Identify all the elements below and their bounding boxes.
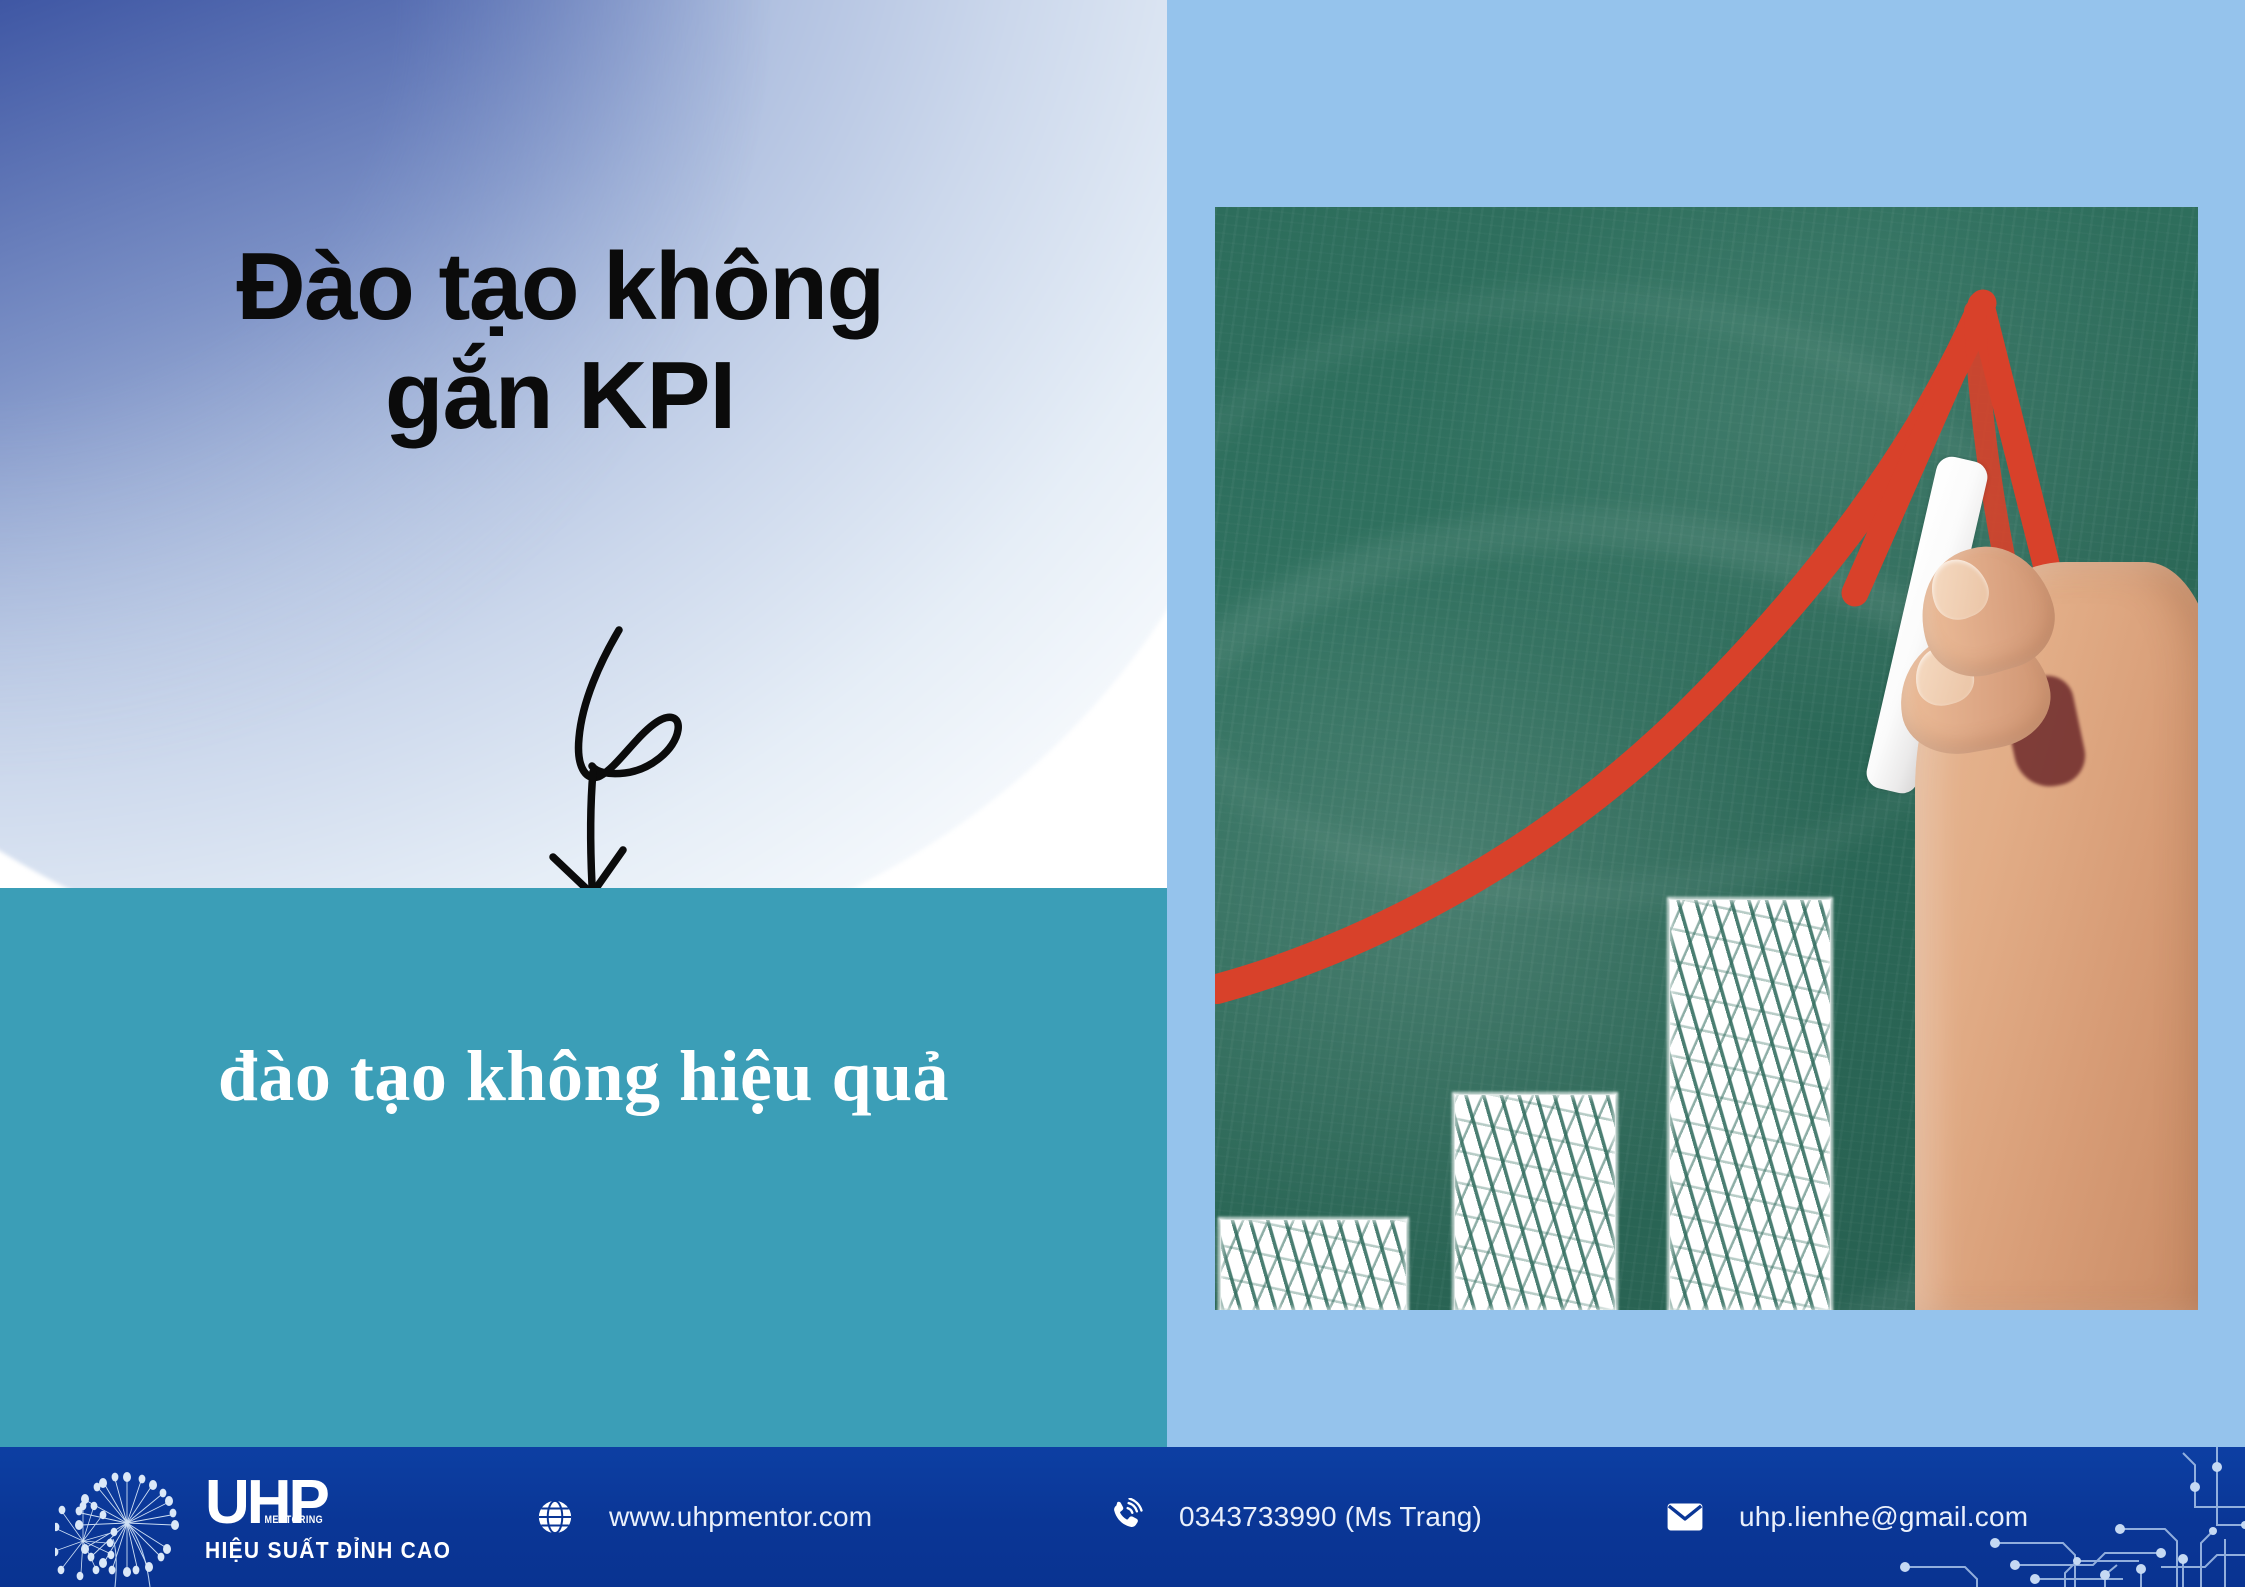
curly-down-arrow-icon bbox=[520, 620, 750, 905]
logo-tagline: HIỆU SUẤT ĐỈNH CAO bbox=[205, 1538, 475, 1565]
page-title: Đào tạo không gắn KPI bbox=[0, 232, 1120, 451]
logo-wordmark: UHP MENTORING bbox=[205, 1473, 327, 1533]
title-line-2: gắn KPI bbox=[0, 341, 1120, 450]
chalk-bar-3 bbox=[1670, 900, 1830, 1310]
globe-icon bbox=[535, 1497, 575, 1537]
uhp-logo[interactable]: UHP MENTORING HIỆU SUẤT ĐỈNH CAO bbox=[205, 1473, 475, 1562]
contact-phone[interactable]: 0343733990 (Ms Trang) bbox=[1105, 1497, 1482, 1537]
bar-chalk-edge bbox=[1452, 1092, 1618, 1310]
contact-phone-text: 0343733990 (Ms Trang) bbox=[1179, 1501, 1482, 1533]
chalkboard-growth-chart-photo bbox=[1215, 207, 2198, 1310]
bar-chalk-edge bbox=[1667, 897, 1833, 1310]
right-image-panel bbox=[1167, 0, 2245, 1447]
footer-contact-bar: UHP MENTORING HIỆU SUẤT ĐỈNH CAO www.uhp bbox=[0, 1447, 2245, 1587]
blue-gradient-wash-secondary bbox=[0, 0, 900, 1000]
chalk-bar-2 bbox=[1455, 1095, 1615, 1310]
phone-icon bbox=[1105, 1497, 1145, 1537]
subtitle-text: đào tạo không hiệu quả bbox=[0, 1035, 1167, 1118]
bar-chalk-edge bbox=[1218, 1217, 1409, 1310]
contact-website[interactable]: www.uhpmentor.com bbox=[535, 1497, 872, 1537]
poster-canvas: Đào tạo không gắn KPI đào tạo không hiệu… bbox=[0, 0, 2245, 1587]
contact-website-text: www.uhpmentor.com bbox=[609, 1501, 872, 1533]
logo-superscript: MENTORING bbox=[265, 1515, 324, 1526]
envelope-icon bbox=[1665, 1497, 1705, 1537]
chalk-bar-1 bbox=[1221, 1220, 1406, 1310]
logo-wordmark-text: UHP bbox=[205, 1468, 327, 1537]
circuit-pattern-icon bbox=[1865, 1447, 2245, 1587]
teal-band bbox=[0, 888, 1167, 1447]
left-content-column: Đào tạo không gắn KPI đào tạo không hiệu… bbox=[0, 0, 1167, 1447]
title-line-1: Đào tạo không bbox=[0, 232, 1120, 341]
